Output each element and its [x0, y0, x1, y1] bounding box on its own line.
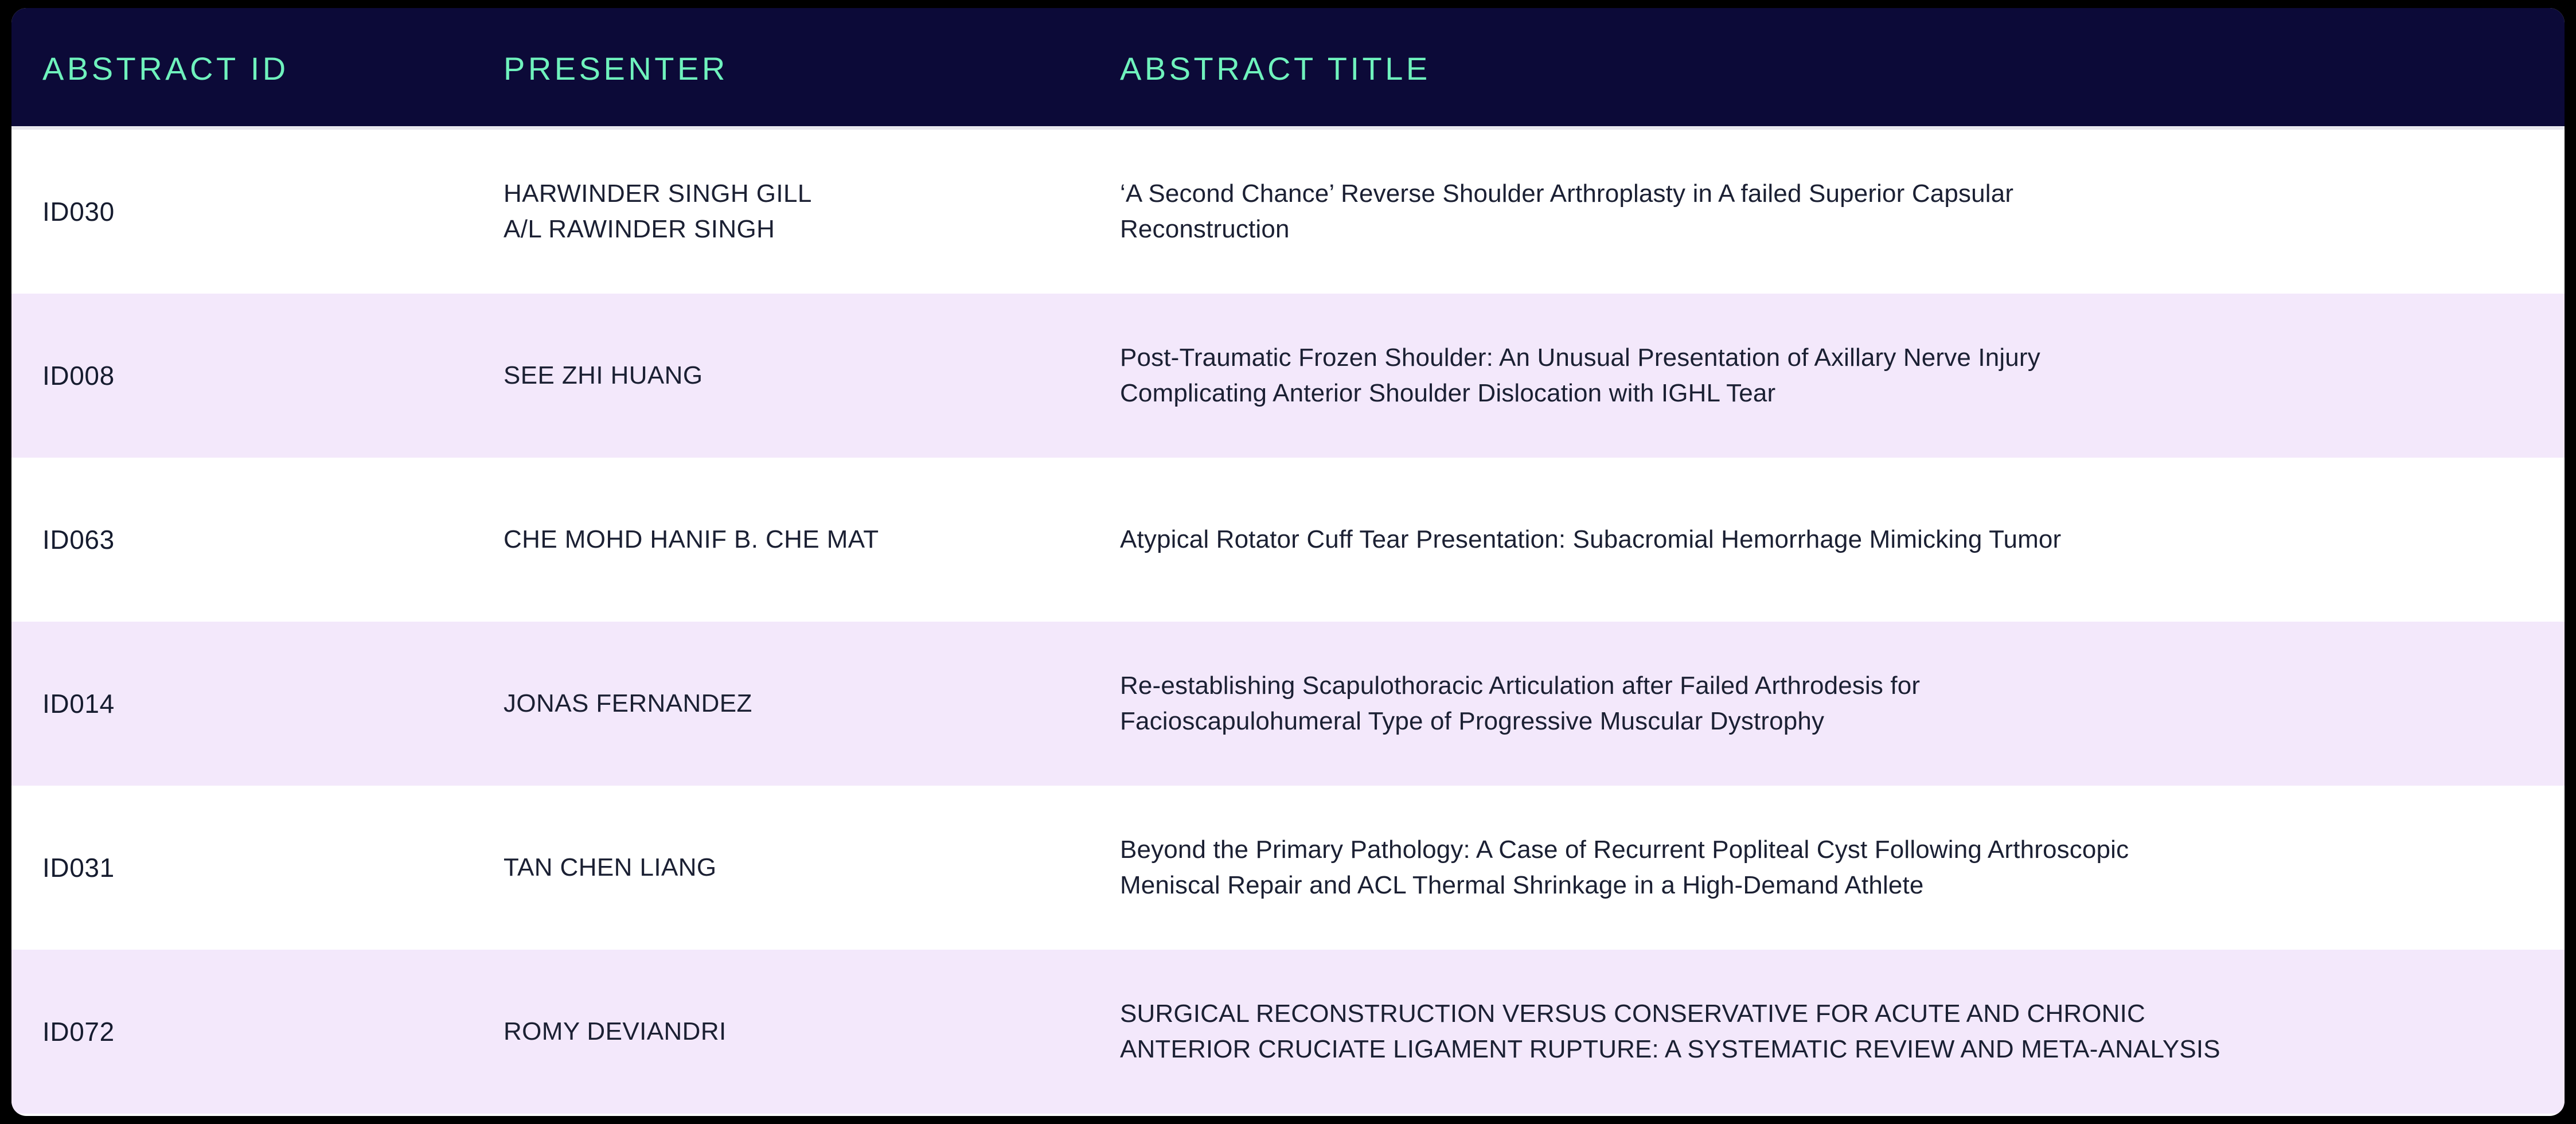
cell-abstract-id: ID014: [11, 622, 493, 786]
cell-abstract-title: SURGICAL RECONSTRUCTION VERSUS CONSERVAT…: [1110, 950, 2565, 1114]
presenter-value: HARWINDER SINGH GILLA/L RAWINDER SINGH: [493, 176, 1110, 248]
abstract-title-line: Re-establishing Scapulothoracic Articula…: [1120, 668, 2551, 704]
cell-abstract-id: ID031: [11, 786, 493, 950]
abstract-title-value: Beyond the Primary Pathology: A Case of …: [1110, 832, 2565, 904]
presenter-line: SEE ZHI HUANG: [504, 358, 1096, 393]
presenter-line: JONAS FERNANDEZ: [504, 686, 1096, 721]
abstract-title-value: SURGICAL RECONSTRUCTION VERSUS CONSERVAT…: [1110, 996, 2565, 1068]
table-row: ID031TAN CHEN LIANGBeyond the Primary Pa…: [11, 786, 2565, 950]
abstract-title-line: Beyond the Primary Pathology: A Case of …: [1120, 832, 2551, 868]
presenter-line: ROMY DEVIANDRI: [504, 1014, 1096, 1049]
abstract-title-line: Reconstruction: [1120, 212, 2551, 247]
cell-abstract-id: ID072: [11, 950, 493, 1114]
presenter-value: TAN CHEN LIANG: [493, 850, 1110, 885]
presenter-line: A/L RAWINDER SINGH: [504, 212, 1096, 247]
column-header-presenter-label: PRESENTER: [493, 51, 1110, 87]
abstract-title-value: Atypical Rotator Cuff Tear Presentation:…: [1110, 522, 2565, 557]
abstract-id-value: ID063: [11, 524, 493, 555]
abstract-title-value: Re-establishing Scapulothoracic Articula…: [1110, 668, 2565, 740]
abstract-id-value: ID031: [11, 852, 493, 883]
abstract-title-line: Facioscapulohumeral Type of Progressive …: [1120, 704, 2551, 739]
column-header-abstract-title: ABSTRACT TITLE: [1110, 8, 2565, 130]
abstract-id-value: ID030: [11, 196, 493, 227]
table-row: ID030HARWINDER SINGH GILLA/L RAWINDER SI…: [11, 130, 2565, 294]
cell-abstract-title: Atypical Rotator Cuff Tear Presentation:…: [1110, 458, 2565, 622]
table-header: ABSTRACT ID PRESENTER ABSTRACT TITLE: [11, 8, 2565, 130]
table-row: ID063CHE MOHD HANIF B. CHE MATAtypical R…: [11, 458, 2565, 622]
presenter-value: CHE MOHD HANIF B. CHE MAT: [493, 522, 1110, 557]
table-header-row: ABSTRACT ID PRESENTER ABSTRACT TITLE: [11, 8, 2565, 130]
abstract-title-line: Post-Traumatic Frozen Shoulder: An Unusu…: [1120, 340, 2551, 376]
cell-abstract-id: ID030: [11, 130, 493, 294]
abstract-table: ABSTRACT ID PRESENTER ABSTRACT TITLE ID0…: [11, 8, 2565, 1114]
cell-presenter: ROMY DEVIANDRI: [493, 950, 1110, 1114]
column-header-abstract-title-label: ABSTRACT TITLE: [1110, 51, 2565, 87]
column-header-abstract-id: ABSTRACT ID: [11, 8, 493, 130]
abstract-table-card: ABSTRACT ID PRESENTER ABSTRACT TITLE ID0…: [11, 8, 2565, 1116]
cell-abstract-title: Beyond the Primary Pathology: A Case of …: [1110, 786, 2565, 950]
abstract-id-value: ID014: [11, 688, 493, 719]
column-header-presenter: PRESENTER: [493, 8, 1110, 130]
abstract-title-line: Meniscal Repair and ACL Thermal Shrinkag…: [1120, 868, 2551, 903]
cell-abstract-title: Post-Traumatic Frozen Shoulder: An Unusu…: [1110, 294, 2565, 458]
cell-abstract-title: ‘A Second Chance’ Reverse Shoulder Arthr…: [1110, 130, 2565, 294]
abstract-title-line: SURGICAL RECONSTRUCTION VERSUS CONSERVAT…: [1120, 996, 2551, 1032]
abstract-title-line: Atypical Rotator Cuff Tear Presentation:…: [1120, 522, 2551, 557]
cell-presenter: CHE MOHD HANIF B. CHE MAT: [493, 458, 1110, 622]
cell-presenter: TAN CHEN LIANG: [493, 786, 1110, 950]
table-row: ID014JONAS FERNANDEZRe-establishing Scap…: [11, 622, 2565, 786]
cell-presenter: HARWINDER SINGH GILLA/L RAWINDER SINGH: [493, 130, 1110, 294]
table-body: ID030HARWINDER SINGH GILLA/L RAWINDER SI…: [11, 130, 2565, 1114]
abstract-title-value: Post-Traumatic Frozen Shoulder: An Unusu…: [1110, 340, 2565, 412]
presenter-line: HARWINDER SINGH GILL: [504, 176, 1096, 212]
presenter-value: ROMY DEVIANDRI: [493, 1014, 1110, 1049]
presenter-value: SEE ZHI HUANG: [493, 358, 1110, 393]
column-header-abstract-id-label: ABSTRACT ID: [11, 51, 493, 87]
abstract-id-value: ID008: [11, 360, 493, 391]
abstract-title-line: Complicating Anterior Shoulder Dislocati…: [1120, 376, 2551, 411]
cell-presenter: JONAS FERNANDEZ: [493, 622, 1110, 786]
cell-abstract-title: Re-establishing Scapulothoracic Articula…: [1110, 622, 2565, 786]
abstract-title-line: ANTERIOR CRUCIATE LIGAMENT RUPTURE: A SY…: [1120, 1032, 2551, 1067]
cell-abstract-id: ID008: [11, 294, 493, 458]
presenter-line: CHE MOHD HANIF B. CHE MAT: [504, 522, 1096, 557]
cell-abstract-id: ID063: [11, 458, 493, 622]
presenter-line: TAN CHEN LIANG: [504, 850, 1096, 885]
cell-presenter: SEE ZHI HUANG: [493, 294, 1110, 458]
abstract-title-line: ‘A Second Chance’ Reverse Shoulder Arthr…: [1120, 176, 2551, 212]
table-row: ID072ROMY DEVIANDRISURGICAL RECONSTRUCTI…: [11, 950, 2565, 1114]
abstract-title-value: ‘A Second Chance’ Reverse Shoulder Arthr…: [1110, 176, 2565, 248]
table-row: ID008SEE ZHI HUANGPost-Traumatic Frozen …: [11, 294, 2565, 458]
presenter-value: JONAS FERNANDEZ: [493, 686, 1110, 721]
abstract-id-value: ID072: [11, 1016, 493, 1047]
